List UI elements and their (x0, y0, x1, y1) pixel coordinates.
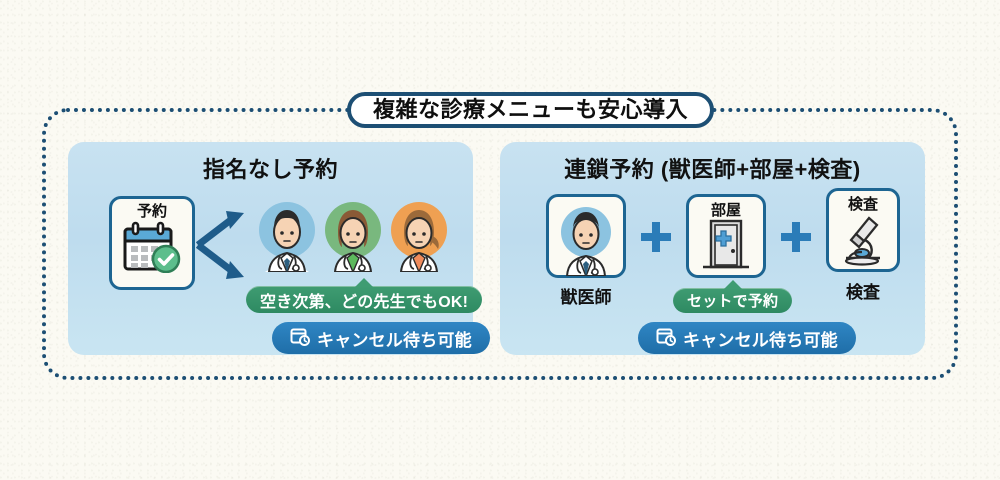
calendar-booking-card[interactable]: 予約 (109, 196, 195, 290)
cancel-wait-badge-left-label: キャンセル待ち可能 (317, 326, 472, 351)
doctor-female-ponytail-avatar (388, 196, 450, 272)
door-cross-icon (697, 218, 755, 276)
room-card[interactable]: 部屋 (686, 194, 766, 278)
left-panel-heading: 指名なし予約 (68, 152, 473, 184)
pill-tail (355, 278, 373, 287)
calendar-card-title: 予約 (137, 204, 167, 219)
doctor-male-avatar (256, 196, 318, 272)
availability-pill: 空き次第、どの先生でもOK! (246, 286, 482, 313)
pill-tail (724, 280, 742, 289)
microscope-icon (835, 212, 891, 271)
vet-avatar-icon (550, 197, 622, 281)
calendar-clock-icon (290, 326, 310, 351)
set-booking-pill-label: セットで予約 (687, 290, 778, 311)
page-title: 複雑な診療メニューも安心導入 (373, 99, 688, 121)
calendar-clock-icon (656, 326, 676, 351)
set-booking-pill: セットで予約 (673, 288, 792, 313)
plus-operator-2-icon (781, 222, 811, 252)
right-panel-heading: 連鎖予約 (獣医師+部屋+検査) (500, 152, 925, 184)
availability-pill-label: 空き次第、どの先生でもOK! (260, 288, 468, 312)
cancel-wait-badge-right[interactable]: キャンセル待ち可能 (638, 322, 856, 354)
doctor-female-brown-avatar (322, 196, 384, 272)
vet-card[interactable] (546, 194, 626, 278)
calendar-check-icon (120, 221, 184, 278)
vet-caption: 獣医師 (546, 283, 626, 308)
title-pill: 複雑な診療メニューも安心導入 (347, 92, 714, 128)
cancel-wait-badge-left[interactable]: キャンセル待ち可能 (272, 322, 490, 354)
exam-card-title: 検査 (848, 197, 878, 212)
room-card-title: 部屋 (711, 203, 741, 218)
cancel-wait-badge-right-label: キャンセル待ち可能 (683, 326, 838, 351)
exam-card[interactable]: 検査 (826, 188, 900, 272)
plus-operator-1-icon (641, 222, 671, 252)
exam-caption: 検査 (826, 278, 900, 303)
